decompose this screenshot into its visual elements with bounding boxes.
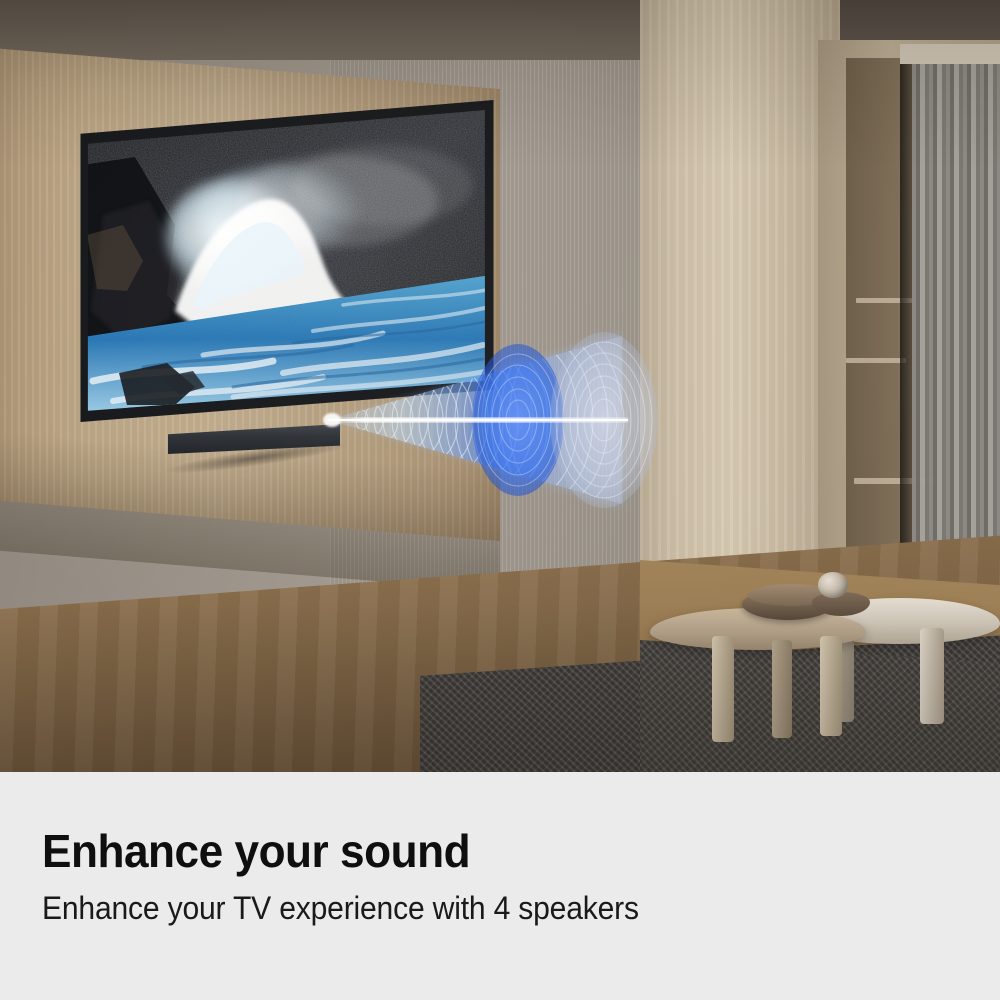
page-subtitle: Enhance your TV experience with 4 speake…	[42, 890, 639, 927]
caption-panel: Enhance your sound Enhance your TV exper…	[0, 772, 1000, 1000]
door-shelf-mid	[846, 358, 906, 363]
coffee-table-legs	[650, 636, 866, 746]
coffee-table-leg	[820, 636, 842, 736]
coffee-table-leg	[712, 636, 734, 742]
product-feature-card: Enhance your sound Enhance your TV exper…	[0, 0, 1000, 1000]
coffee-table-leg	[772, 640, 792, 738]
side-table-leg	[920, 628, 944, 724]
page-title: Enhance your sound	[42, 824, 470, 878]
television	[78, 100, 496, 422]
curtain-rail	[900, 44, 1000, 64]
decorative-knot-object	[818, 572, 848, 598]
room-photo	[0, 0, 1000, 772]
tv-screen	[83, 105, 491, 417]
